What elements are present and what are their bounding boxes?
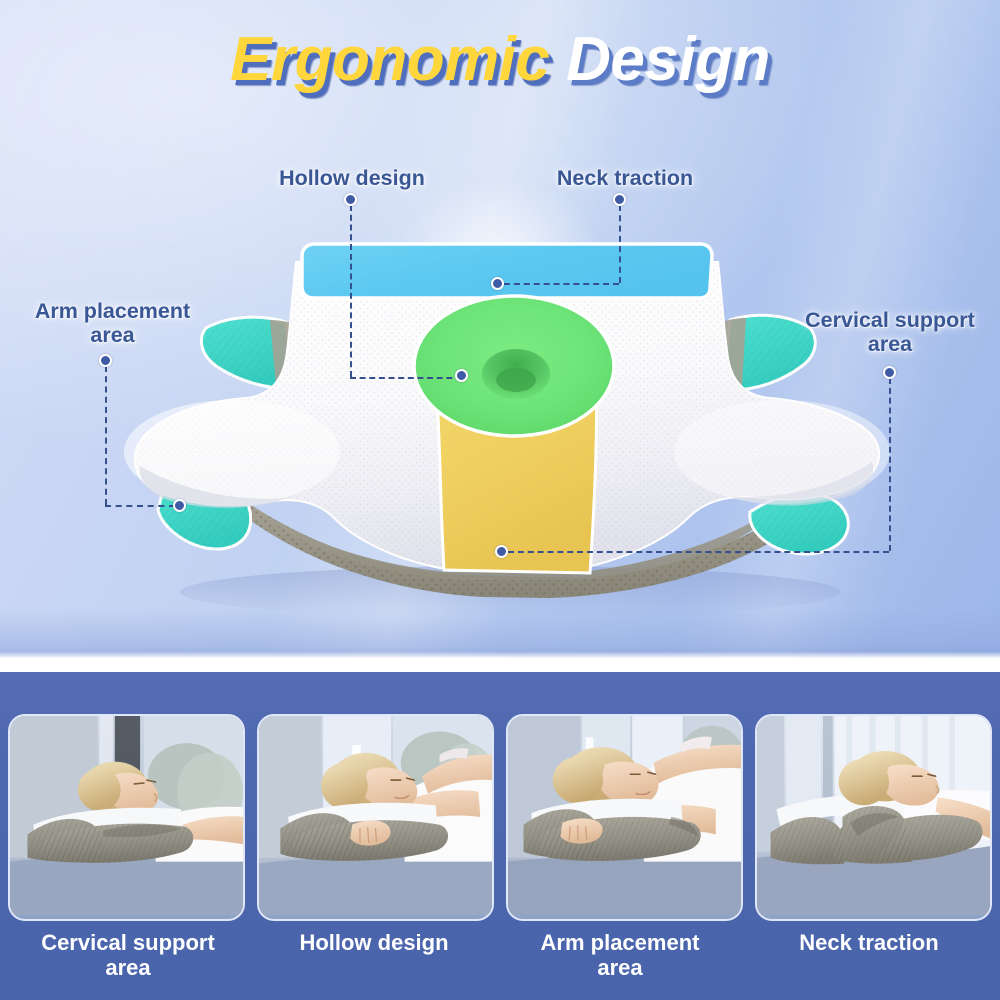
- zone-dot-cervical-strip: [495, 545, 508, 558]
- leader-neck-vertical: [619, 205, 621, 283]
- leader-arm-vertical: [105, 366, 107, 505]
- gallery-card-neck-traction[interactable]: [755, 714, 992, 921]
- zone-dot-hollow-cavity: [455, 369, 468, 382]
- title-word-design: Design: [566, 25, 770, 94]
- callout-dot-cervical-support: [883, 366, 896, 379]
- infographic-root: Ergonomic Design: [0, 0, 1000, 1000]
- pillow-illustration: [110, 240, 900, 620]
- leader-cervical-horizontal: [508, 551, 889, 553]
- page-title: Ergonomic Design: [0, 24, 1000, 95]
- callout-dot-hollow-design: [344, 193, 357, 206]
- hollow-cavity-shape: [414, 296, 614, 436]
- callout-label-hollow-design: Hollow design: [247, 166, 457, 190]
- gallery-card-cervical-support[interactable]: [8, 714, 245, 921]
- leader-neck-horizontal: [504, 283, 619, 285]
- gallery-card-row: [0, 714, 1000, 924]
- zone-dot-arm-wing-left: [173, 499, 186, 512]
- callout-label-arm-placement: Arm placement area: [0, 299, 225, 347]
- neck-traction-band-shape: [302, 244, 712, 298]
- gallery-section: Cervical support area Hollow design Arm …: [0, 672, 1000, 1000]
- callout-label-neck-traction: Neck traction: [525, 166, 725, 190]
- zone-dot-neck-traction: [491, 277, 504, 290]
- gallery-caption-cervical-support: Cervical support area: [6, 930, 250, 980]
- callout-label-cervical-support: Cervical support area: [780, 308, 1000, 356]
- leader-cervical-vertical: [889, 378, 891, 551]
- leader-hollow-horizontal: [350, 377, 462, 379]
- gallery-caption-hollow-design: Hollow design: [252, 930, 496, 955]
- callout-dot-neck-traction: [613, 193, 626, 206]
- gallery-caption-neck-traction: Neck traction: [744, 930, 994, 955]
- leader-arm-horizontal: [105, 505, 175, 507]
- title-word-ergonomic: Ergonomic: [230, 25, 549, 94]
- leader-hollow-vertical: [350, 205, 352, 377]
- gallery-card-arm-placement[interactable]: [506, 714, 743, 921]
- gallery-caption-arm-placement: Arm placement area: [498, 930, 742, 980]
- callout-dot-arm-placement: [99, 354, 112, 367]
- gallery-card-hollow-design[interactable]: [257, 714, 494, 921]
